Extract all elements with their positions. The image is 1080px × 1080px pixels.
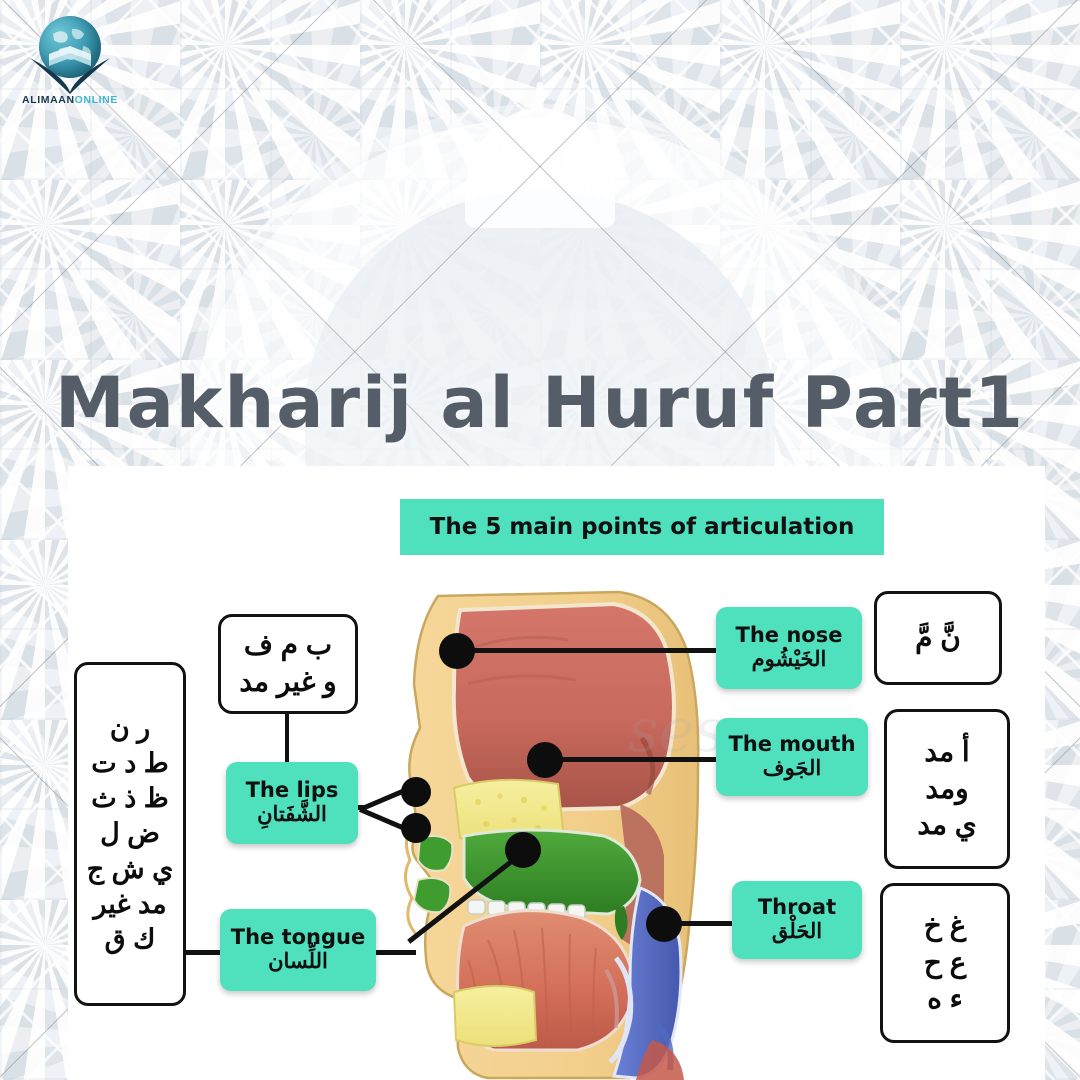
throat-connector-line (673, 921, 733, 926)
label-chip-mouth[interactable]: The mouth الجَوف (716, 718, 868, 796)
mouth-letters-row: ومد (925, 771, 968, 808)
upper-lip-marker-dot (401, 777, 431, 807)
tongue-letters-row: ي ش ج (87, 852, 174, 887)
mouth-connector-line (554, 757, 717, 762)
page-title: Makharij al Huruf Part1 (0, 362, 1080, 444)
letters-box-nose: نَّ مَّ (874, 591, 1002, 685)
nose-label-en: The nose (736, 624, 843, 647)
mouth-letters-row: ي مد (917, 807, 976, 844)
mouth-marker-dot (527, 742, 563, 778)
tongue-letters-row: ظ ذ ث (91, 781, 168, 816)
tongue-letters-row: ط د ت (91, 746, 168, 781)
letters-box-mouth: أ مد ومد ي مد (884, 709, 1010, 869)
letters-box-tongue: ر ن ط د ت ظ ذ ث ض ل ي ش ج مد غير ك ق (74, 662, 186, 1006)
throat-marker-dot (646, 906, 682, 942)
label-chip-tongue[interactable]: The tongue اللِّسان (220, 909, 376, 991)
lips-letters-row: ب م ف (244, 627, 332, 664)
tongue-letters-row: ض ل (100, 816, 160, 851)
tongue-letters-row: ر ن (110, 711, 150, 746)
mouth-letters-row: أ مد (924, 734, 969, 771)
throat-label-ar: الحَلْق (772, 920, 822, 944)
letters-box-lips: ب م ف و غير مد (218, 614, 358, 714)
mouth-label-ar: الجَوف (763, 757, 821, 781)
brand-name-secondary: ONLINE (75, 94, 118, 106)
label-chip-lips[interactable]: The lips الشَّفَتانِ (226, 762, 358, 844)
lips-letters-row: و غير مد (239, 664, 336, 701)
throat-letters-row: ء ه (927, 981, 963, 1018)
lips-label-ar: الشَّفَتانِ (257, 803, 327, 827)
nose-letters-row: نَّ مَّ (915, 620, 961, 657)
open-book-icon (39, 16, 101, 78)
globe-icon (39, 16, 101, 78)
lips-label-en: The lips (246, 779, 339, 802)
tongue-label-ar: اللِّسان (268, 950, 328, 974)
tongue-marker-dot (505, 832, 541, 868)
tongue-letters-row: مد غير (93, 887, 166, 922)
brand-name-primary: ALIMAAN (22, 94, 75, 106)
throat-letters-row: ع ح (924, 945, 967, 982)
throat-label-en: Throat (758, 896, 836, 919)
lips-letters-stem-line (285, 710, 289, 770)
throat-letters-row: غ خ (924, 908, 967, 945)
diagram-banner-label: The 5 main points of articulation (430, 514, 855, 540)
letters-box-throat: غ خ ع ح ء ه (880, 883, 1010, 1043)
nose-label-ar: الخَيْشُوم (752, 648, 827, 672)
tongue-letters-row: ك ق (105, 922, 156, 957)
nose-marker-dot (439, 633, 475, 669)
brand-logo[interactable]: ALIMAANONLINE (16, 16, 124, 106)
tongue-label-en: The tongue (231, 926, 365, 949)
poster-canvas: ALIMAANONLINE Makharij al Huruf Part1 se… (0, 0, 1080, 1080)
diagram-banner: The 5 main points of articulation (400, 499, 884, 555)
label-chip-throat[interactable]: Throat الحَلْق (732, 881, 862, 959)
nose-connector-line (466, 648, 717, 653)
brand-name: ALIMAANONLINE (16, 94, 124, 106)
diagram-card: ses The 5 main points of articulation (68, 466, 1045, 1080)
lower-lip-marker-dot (401, 813, 431, 843)
mouth-label-en: The mouth (728, 733, 855, 756)
label-chip-nose[interactable]: The nose الخَيْشُوم (716, 607, 862, 689)
